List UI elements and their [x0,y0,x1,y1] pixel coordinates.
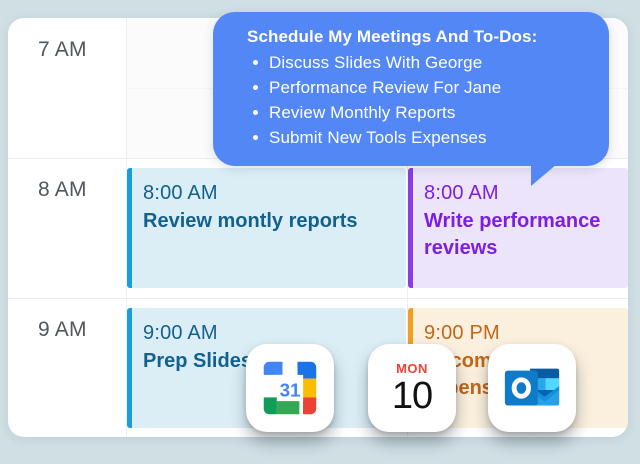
hour-label-8am: 8 AM [38,178,87,202]
event-title: Review montly reports [143,208,392,235]
apple-calendar-day-of-week: MON [392,362,432,375]
schedule-tooltip-callout: Schedule My Meetings And To-Dos: Discuss… [213,12,609,166]
time-gutter-divider [126,18,127,158]
tooltip-list-item: Review Monthly Reports [269,100,591,125]
tooltip-title: Schedule My Meetings And To-Dos: [247,26,591,48]
svg-text:31: 31 [280,379,301,400]
event-time: 9:00 AM [143,320,392,346]
event-accent-bar [127,308,132,428]
tooltip-list-item: Performance Review For Jane [269,75,591,100]
event-accent-bar [127,168,132,288]
google-calendar-glyph: 31 [260,358,320,418]
event-time: 9:00 PM [424,320,614,346]
calendar-event-write-performance-reviews[interactable]: 8:00 AM Write performance reviews [408,168,628,288]
tooltip-pointer-tail [531,164,557,186]
outlook-icon[interactable] [488,344,576,432]
hour-label-9am: 9 AM [38,318,87,342]
outlook-glyph [501,357,563,419]
tooltip-list-item: Submit New Tools Expenses [269,125,591,150]
hour-label-7am: 7 AM [38,38,87,62]
apple-calendar-glyph: MON 10 [392,362,432,415]
google-calendar-icon[interactable]: 31 [246,344,334,432]
apple-calendar-day-number: 10 [392,377,432,415]
event-time: 8:00 AM [143,180,392,206]
row-divider [8,298,628,299]
calendar-event-review-monthly-reports[interactable]: 8:00 AM Review montly reports [127,168,406,288]
tooltip-task-list: Discuss Slides With George Performance R… [231,50,591,150]
apple-calendar-icon[interactable]: MON 10 [368,344,456,432]
event-accent-bar [408,168,413,288]
tooltip-list-item: Discuss Slides With George [269,50,591,75]
event-title: Write performance reviews [424,208,614,262]
event-time: 8:00 AM [424,180,614,206]
